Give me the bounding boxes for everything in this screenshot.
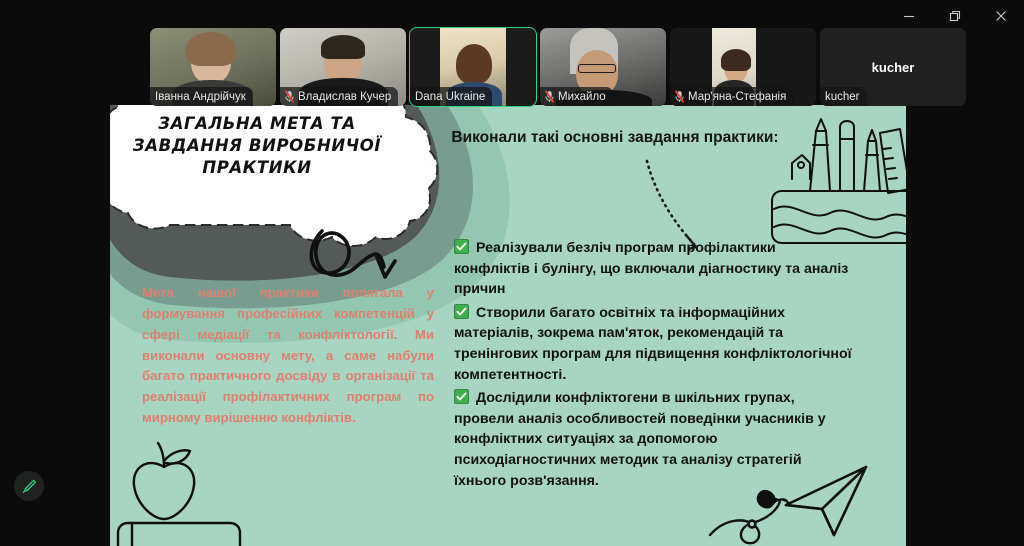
participant-tile[interactable]: Владислав Кучер [280, 28, 406, 106]
bullet-text: Реалізували безліч програм профілактики … [454, 240, 848, 297]
participant-tile[interactable]: Мар'яна-Стефанія [670, 28, 816, 106]
annotate-pencil-icon [21, 478, 38, 495]
slide-bullet-list: Реалізували безліч програм профілактики … [454, 238, 854, 494]
participant-name: kucher [825, 91, 860, 103]
slide-left-paragraph: Мета нашої практики полягала у формуванн… [142, 283, 434, 429]
participant-name-badge: Михайло [540, 87, 613, 106]
participant-name: Владислав Кучер [298, 91, 391, 103]
bullet-text: Створили багато освітніх та інформаційни… [454, 305, 852, 383]
minimize-icon [903, 10, 915, 22]
slide-title: ЗАГАЛЬНА МЕТА ТА ЗАВДАННЯ ВИРОБНИЧОЇ ПРА… [132, 113, 382, 178]
participant-name: Іванна Андрійчук [155, 91, 246, 103]
pencil-case-illustration [772, 119, 906, 243]
participant-name: Михайло [558, 91, 606, 103]
participant-tile[interactable]: Михайло [540, 28, 666, 106]
participant-name-badge: Іванна Андрійчук [150, 87, 253, 106]
bullet-item: Створили багато освітніх та інформаційни… [454, 303, 854, 385]
dotted-arrow [647, 161, 696, 249]
mic-muted-icon [545, 90, 554, 103]
bullet-item: Дослідили конфліктогени в шкільних група… [454, 388, 854, 491]
green-check-box-icon [454, 304, 469, 319]
books-with-apple-illustration [110, 443, 248, 546]
participant-name: Мар'яна-Стефанія [688, 91, 786, 103]
restore-button[interactable] [932, 0, 978, 32]
participant-filmstrip: Іванна Андрійчук Владислав Кучер [150, 28, 895, 106]
participant-name-badge: Мар'яна-Стефанія [670, 87, 793, 106]
minimize-button[interactable] [886, 0, 932, 32]
close-button[interactable] [978, 0, 1024, 32]
bullet-text: Дослідили конфліктогени в шкільних група… [454, 390, 826, 488]
close-icon [995, 10, 1007, 22]
participant-name: Dana Ukraine [415, 91, 485, 103]
shared-slide: ЗАГАЛЬНА МЕТА ТА ЗАВДАННЯ ВИРОБНИЧОЇ ПРА… [110, 105, 906, 546]
mic-muted-icon [675, 90, 684, 103]
participant-name-badge: Владислав Кучер [280, 87, 398, 106]
restore-icon [949, 10, 961, 22]
green-check-box-icon [454, 239, 469, 254]
participant-name-badge: kucher [820, 87, 867, 106]
participant-tile-active-speaker[interactable]: Dana Ukraine [410, 28, 536, 106]
slide-right-heading: Виконали такі основні завдання практики: [450, 127, 780, 149]
window-controls [886, 0, 1024, 32]
annotate-button[interactable] [14, 471, 44, 501]
green-check-box-icon [454, 389, 469, 404]
mic-muted-icon [285, 90, 294, 103]
participant-tile[interactable]: Іванна Андрійчук [150, 28, 276, 106]
participant-name-badge: Dana Ukraine [410, 87, 492, 106]
meeting-window: Іванна Андрійчук Владислав Кучер [0, 0, 1024, 546]
participant-tile-no-video[interactable]: kucher kucher [820, 28, 966, 106]
bullet-item: Реалізували безліч програм профілактики … [454, 238, 854, 300]
